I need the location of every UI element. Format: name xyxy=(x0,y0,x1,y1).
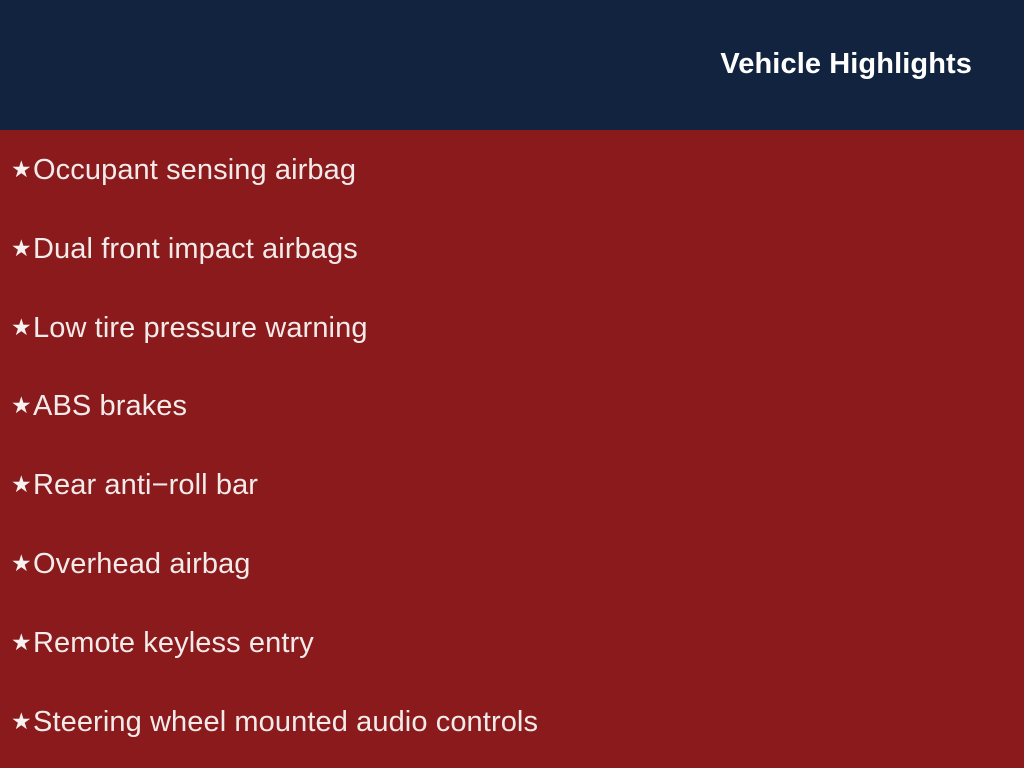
highlight-label: ABS brakes xyxy=(33,392,187,421)
list-item: ★ Occupant sensing airbag xyxy=(0,148,1024,192)
vehicle-highlights-slide: Vehicle Highlights ★ Occupant sensing ai… xyxy=(0,0,1024,768)
star-bullet-icon: ★ xyxy=(0,316,33,339)
star-bullet-icon: ★ xyxy=(0,158,33,181)
slide-header-band: Vehicle Highlights xyxy=(0,0,1024,130)
list-item: ★ Steering wheel mounted audio controls xyxy=(0,700,1024,744)
star-bullet-icon: ★ xyxy=(0,473,33,496)
highlight-label: Occupant sensing airbag xyxy=(33,156,356,185)
highlight-label: Overhead airbag xyxy=(33,550,251,579)
star-bullet-icon: ★ xyxy=(0,710,33,733)
highlight-label: Dual front impact airbags xyxy=(33,235,358,264)
vehicle-highlights-list: ★ Occupant sensing airbag ★ Dual front i… xyxy=(0,130,1024,768)
list-item: ★ Dual front impact airbags xyxy=(0,227,1024,271)
highlight-label: Low tire pressure warning xyxy=(33,314,368,343)
page-title: Vehicle Highlights xyxy=(720,50,972,79)
star-bullet-icon: ★ xyxy=(0,237,33,260)
highlight-label: Rear anti−roll bar xyxy=(33,471,258,500)
star-bullet-icon: ★ xyxy=(0,552,33,575)
highlight-label: Remote keyless entry xyxy=(33,629,314,658)
list-item: ★ ABS brakes xyxy=(0,384,1024,428)
star-bullet-icon: ★ xyxy=(0,631,33,654)
list-item: ★ Overhead airbag xyxy=(0,542,1024,586)
list-item: ★ Rear anti−roll bar xyxy=(0,463,1024,507)
star-bullet-icon: ★ xyxy=(0,394,33,417)
highlight-label: Steering wheel mounted audio controls xyxy=(33,708,538,737)
list-item: ★ Low tire pressure warning xyxy=(0,306,1024,350)
list-item: ★ Remote keyless entry xyxy=(0,621,1024,665)
